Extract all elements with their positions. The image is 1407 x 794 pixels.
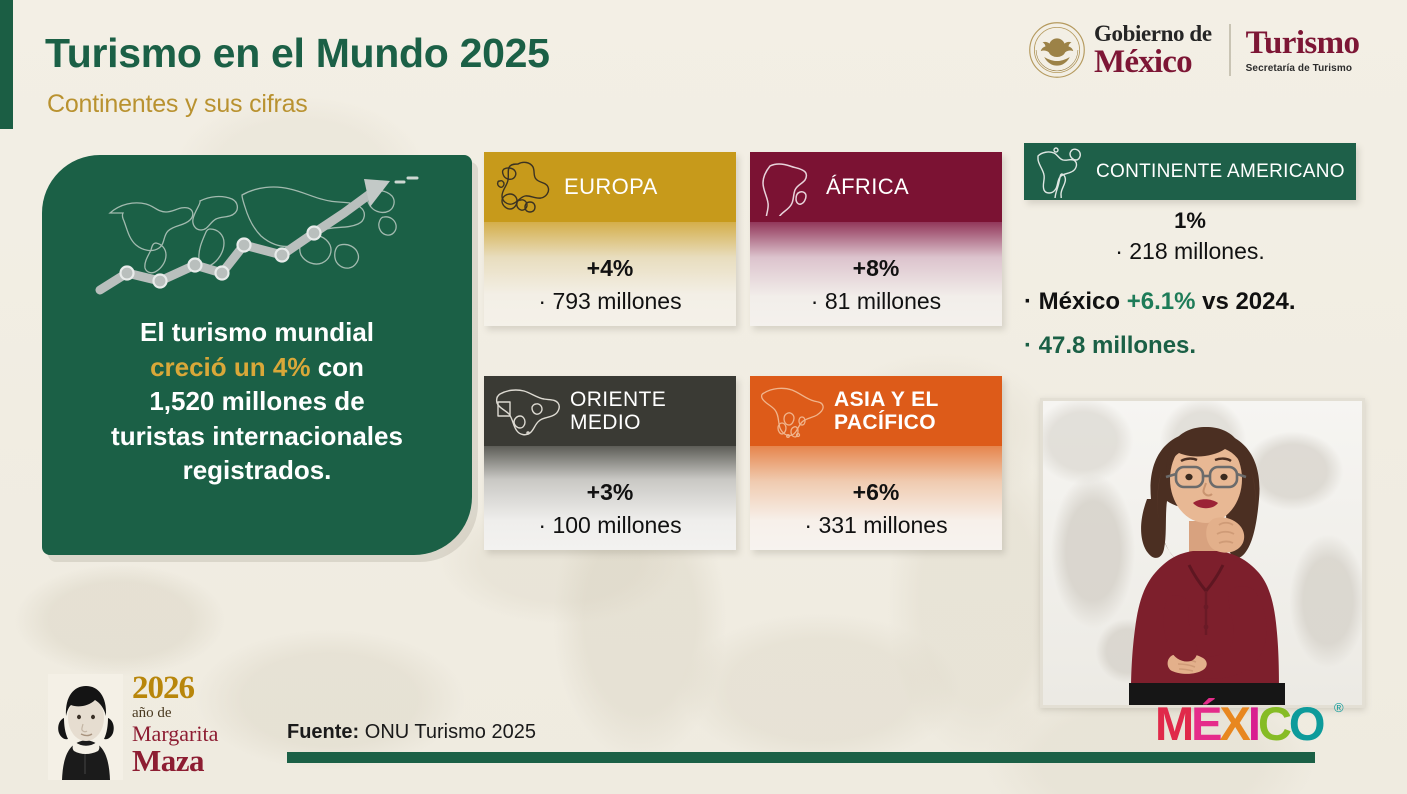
continent-percent-oriente-medio: +3% [484,479,736,506]
world-map-growth-arrow-icon [92,173,422,308]
left-accent-bar [0,0,13,129]
middle-east-map-icon [492,382,560,440]
source-rule [287,752,1315,763]
world-tourism-panel: El turismo mundial creció un 4% con 1,52… [42,155,472,555]
continent-percent-europa: +4% [484,255,736,282]
continent-label-americas: CONTINENTE AMERICANO [1096,161,1345,183]
mexico-brand-logo: MÉXICO [1155,700,1322,747]
continent-value-oriente-medio: · 100 millones [484,512,736,539]
continent-card-africa: ÁFRICA +8% · 81 millones [750,152,1002,326]
continent-label-africa: ÁFRICA [826,175,909,199]
interpreter-figure [1043,401,1365,708]
mexico-prefix: · México [1024,288,1127,315]
brand-letter-m: M [1155,700,1191,747]
continent-value-asia-pacifico: · 331 millones [750,512,1002,539]
source-label-text: ONU Turismo 2025 [359,721,536,743]
mexico-growth-line: · México +6.1% vs 2024. [1024,288,1369,316]
continent-value-africa: · 81 millones [750,288,1002,315]
continent-percent-africa: +8% [750,255,1002,282]
gov-logo-line2: México [1094,46,1212,79]
department-name: Turismo [1246,27,1360,60]
continent-card-oriente-medio: ORIENTE MEDIO +3% · 100 millones [484,376,736,550]
world-text-line3: 1,520 millones de [149,386,364,416]
brand-letter-c: C [1258,700,1289,747]
department-subtitle: Secretaría de Turismo [1246,64,1360,74]
world-panel-text: El turismo mundial creció un 4% con 1,52… [42,315,472,488]
card-header-oriente-medio: ORIENTE MEDIO [484,376,736,446]
world-text-line5: registrados. [183,455,332,485]
card-body-oriente-medio: +3% · 100 millones [484,446,736,550]
source-label-bold: Fuente: [287,721,359,743]
card-body-africa: +8% · 81 millones [750,222,1002,326]
page-subtitle: Continentes y sus cifras [47,90,308,119]
brand-letter-o: O [1289,700,1323,747]
continent-value-europa: · 793 millones [484,288,736,315]
brand-registered-mark: ® [1334,700,1344,715]
brand-letter-i: I [1248,700,1258,747]
page-title: Turismo en el Mundo 2025 [45,30,550,77]
margarita-maza-portrait-icon [48,674,123,780]
brand-letter-x: X [1220,700,1248,747]
gobierno-de-mexico-logo: Gobierno de México Turismo Secretaría de… [1028,18,1359,82]
continent-card-europa: EUROPA +4% · 793 millones [484,152,736,326]
margarita-name-last: Maza [132,745,218,776]
mexico-total-line: · 47.8 millones. [1024,332,1369,360]
card-body-europa: +4% · 793 millones [484,222,736,326]
mexico-suffix: vs 2024. [1195,288,1295,315]
card-header-africa: ÁFRICA [750,152,1002,222]
logo-divider [1229,24,1231,76]
world-text-con: con [310,352,363,382]
sign-language-interpreter-video[interactable] [1040,398,1365,708]
continent-card-americas-header: CONTINENTE AMERICANO [1024,143,1356,200]
margarita-maza-2026-logo: 2026 año de Margarita Maza [48,672,218,780]
brand-letter-e: É [1191,700,1219,747]
continent-percent-asia-pacifico: +6% [750,479,1002,506]
americas-value: · 218 millones. [1024,238,1356,265]
world-text-line4: turistas internacionales [111,421,403,451]
africa-map-icon [758,158,816,216]
card-header-europa: EUROPA [484,152,736,222]
continent-label-asia-pacifico: ASIA Y EL PACÍFICO [834,388,939,434]
margarita-ano-de: año de [132,706,218,721]
europe-map-icon [492,158,554,216]
world-text-line1: El turismo mundial [140,317,374,347]
mexican-coat-of-arms-icon [1028,21,1086,79]
americas-percent: 1% [1024,208,1356,234]
gov-logo-line1: Gobierno de [1094,22,1212,45]
continent-card-asia-pacifico: ASIA Y EL PACÍFICO +6% · 331 millones [750,376,1002,550]
card-header-asia-pacifico: ASIA Y EL PACÍFICO [750,376,1002,446]
continent-label-oriente-medio: ORIENTE MEDIO [570,388,736,434]
card-body-asia-pacifico: +6% · 331 millones [750,446,1002,550]
margarita-year: 2026 [132,672,218,705]
continent-label-europa: EUROPA [564,175,658,199]
americas-map-icon [1032,146,1088,198]
mexico-growth-value: +6.1% [1127,288,1196,315]
world-text-highlight: creció un 4% [150,352,310,382]
margarita-name-first: Margarita [132,723,218,745]
asia-pacific-map-icon [758,381,824,441]
source-label: Fuente: ONU Turismo 2025 [287,721,536,744]
